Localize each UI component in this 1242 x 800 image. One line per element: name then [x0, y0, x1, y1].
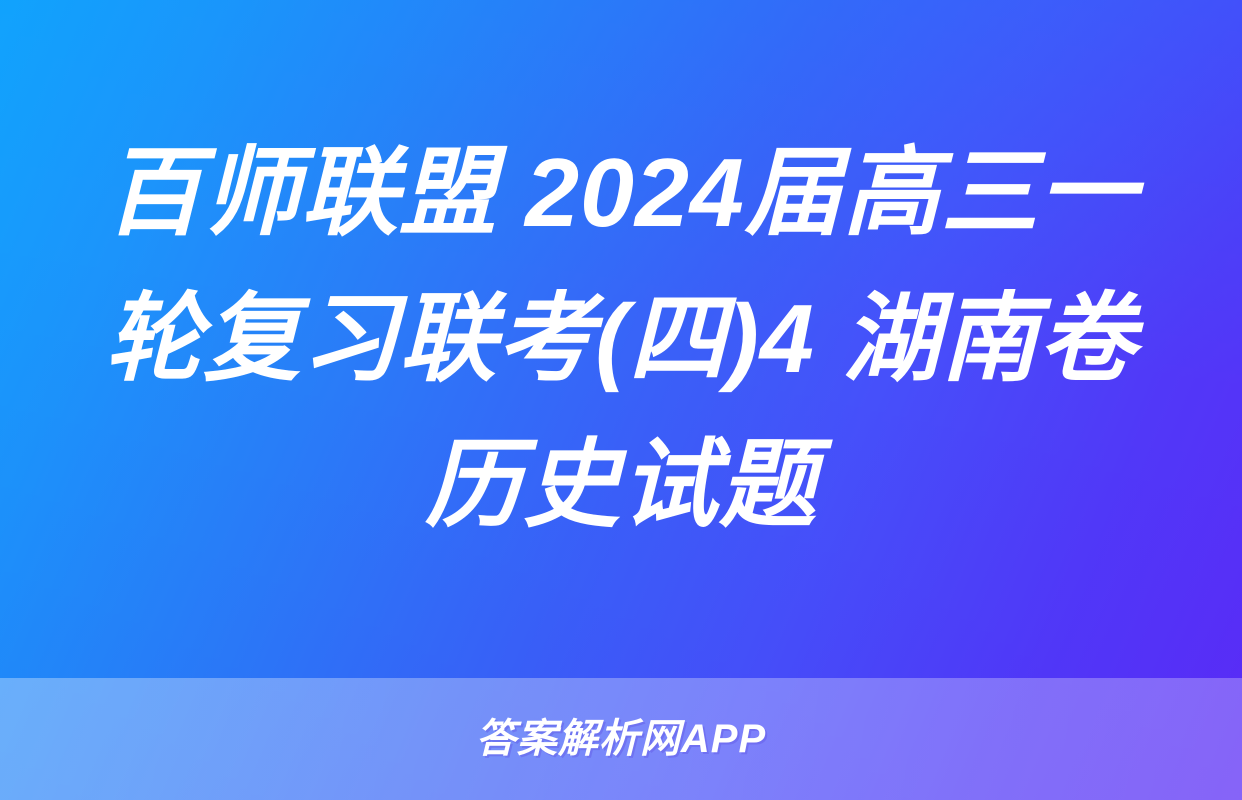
- title-block: 百师联盟 2024届高三一 轮复习联考(四)4 湖南卷 历史试题: [0, 0, 1242, 678]
- watermark-band: 答案解析网APP: [0, 678, 1242, 800]
- title-line-1: 百师联盟 2024届高三一: [105, 120, 1137, 266]
- title-line-3: 历史试题: [105, 412, 1137, 558]
- exam-cover-poster: 百师联盟 2024届高三一 轮复习联考(四)4 湖南卷 历史试题 答案解析网AP…: [0, 0, 1242, 800]
- title-line-2: 轮复习联考(四)4 湖南卷: [105, 266, 1137, 412]
- page-title: 百师联盟 2024届高三一 轮复习联考(四)4 湖南卷 历史试题: [105, 120, 1137, 558]
- app-watermark: 答案解析网APP: [476, 715, 766, 763]
